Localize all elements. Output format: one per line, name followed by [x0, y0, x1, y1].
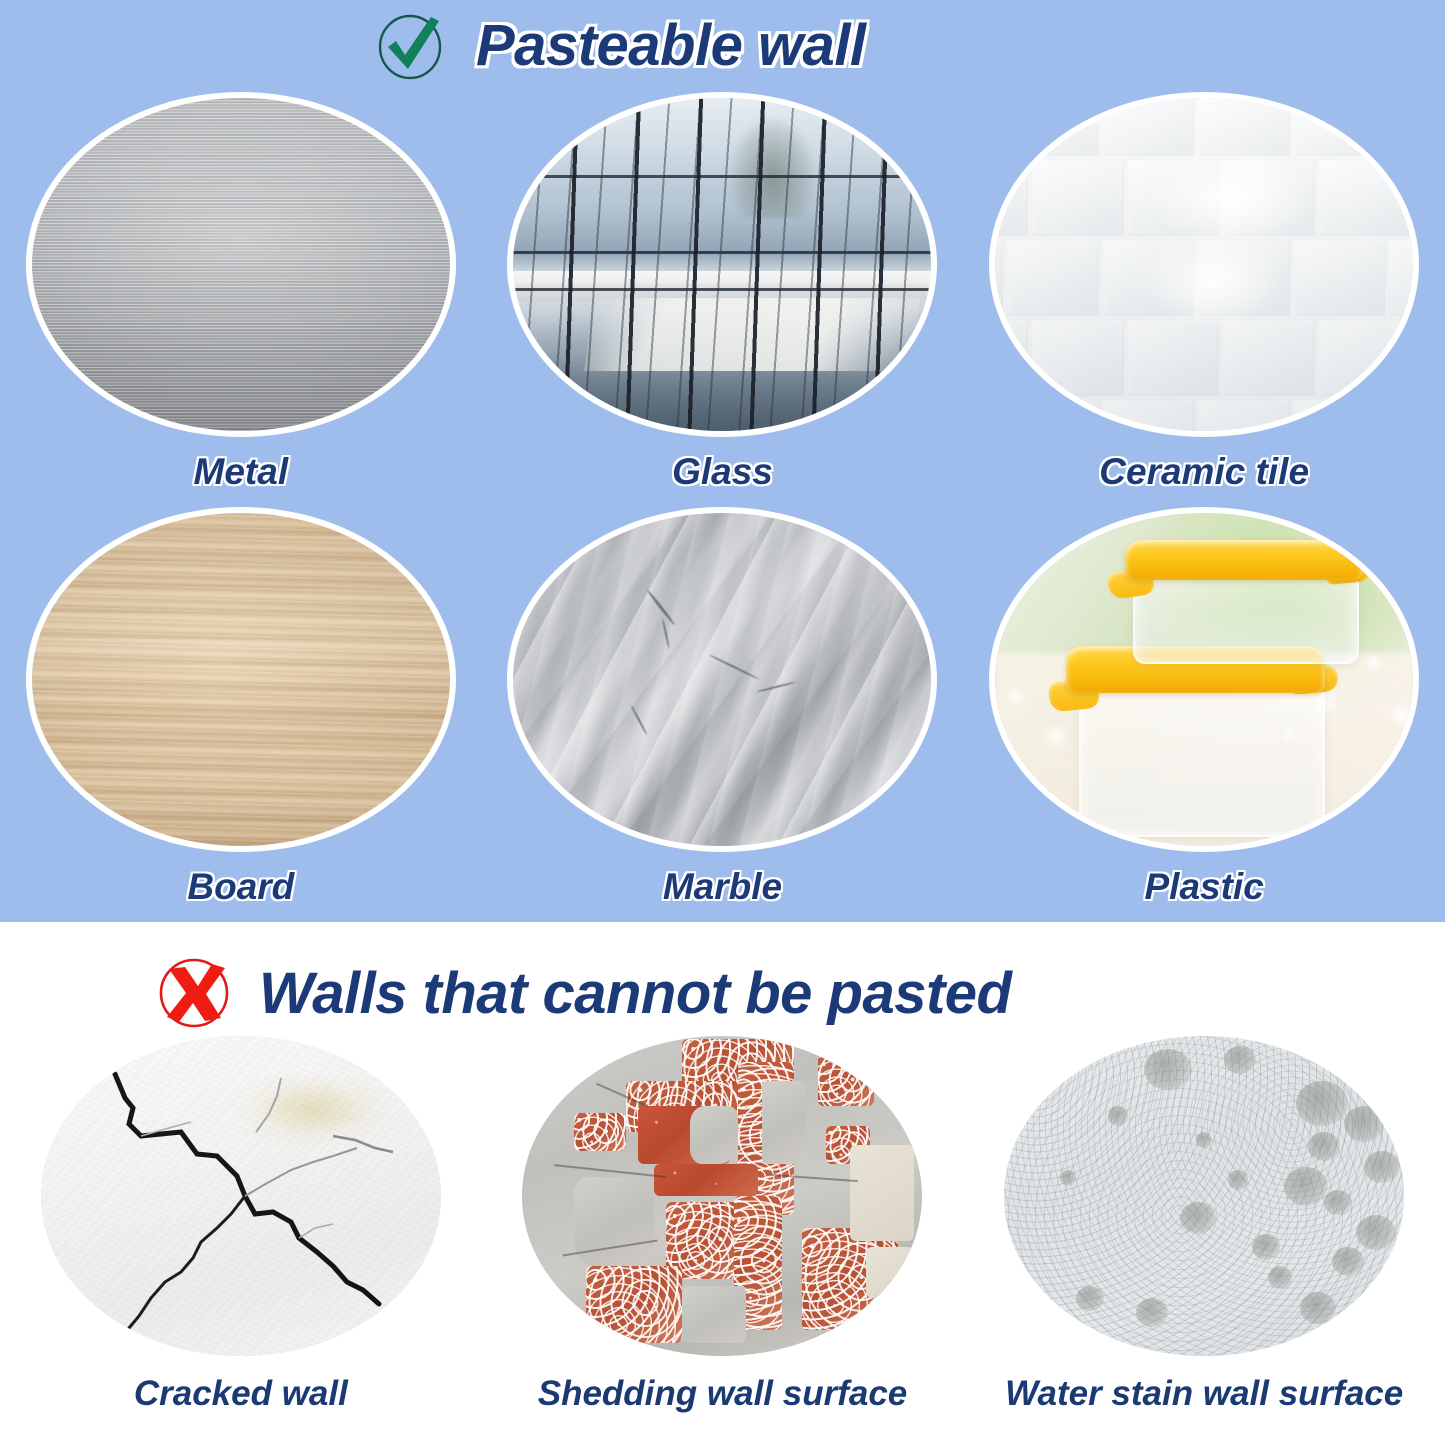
item-label-metal: Metal — [194, 451, 289, 493]
item-label-cracked-wall: Cracked wall — [134, 1374, 348, 1414]
marble-image — [507, 507, 937, 852]
item-shedding-wall-surface: Shedding wall surface — [482, 1036, 964, 1436]
cannot-paste-items-grid: Cracked wall — [0, 1036, 1445, 1436]
glass-image — [507, 92, 937, 437]
item-label-shedding-wall-surface: Shedding wall surface — [538, 1374, 908, 1414]
item-label-marble: Marble — [663, 866, 782, 908]
header-pasteable-wall: Pasteable wall — [372, 2, 866, 88]
pasteable-items-grid: Metal — [0, 92, 1445, 922]
page-title-pasteable: Pasteable wall — [476, 12, 866, 79]
item-marble: Marble — [482, 507, 964, 922]
item-glass: Glass — [482, 92, 964, 507]
water-stain-wall-image — [1004, 1036, 1404, 1356]
board-image — [26, 507, 456, 852]
item-plastic: Plastic — [963, 507, 1445, 922]
item-metal: Metal — [0, 92, 482, 507]
item-water-stain-wall-surface: Water stain wall surface — [963, 1036, 1445, 1436]
plastic-image — [989, 507, 1419, 852]
red-cross-icon — [155, 956, 233, 1030]
section-pasteable-wall: Pasteable wall Metal — [0, 0, 1445, 922]
green-check-icon — [372, 7, 448, 83]
page-title-cannot-paste: Walls that cannot be pasted — [259, 960, 1011, 1027]
item-cracked-wall: Cracked wall — [0, 1036, 482, 1436]
item-label-ceramic-tile: Ceramic tile — [1099, 451, 1309, 493]
metal-image — [26, 92, 456, 437]
item-label-plastic: Plastic — [1145, 866, 1264, 908]
ceramic-tile-image — [989, 92, 1419, 437]
item-label-board: Board — [187, 866, 294, 908]
infographic-page: Pasteable wall Metal — [0, 0, 1445, 1445]
cracked-wall-image — [41, 1036, 441, 1356]
item-label-glass: Glass — [672, 451, 773, 493]
header-cannot-be-pasted: Walls that cannot be pasted — [155, 952, 1011, 1034]
shedding-wall-image — [522, 1036, 922, 1356]
item-label-water-stain-wall-surface: Water stain wall surface — [1005, 1374, 1403, 1414]
item-ceramic-tile: Ceramic tile — [963, 92, 1445, 507]
item-board: Board — [0, 507, 482, 922]
